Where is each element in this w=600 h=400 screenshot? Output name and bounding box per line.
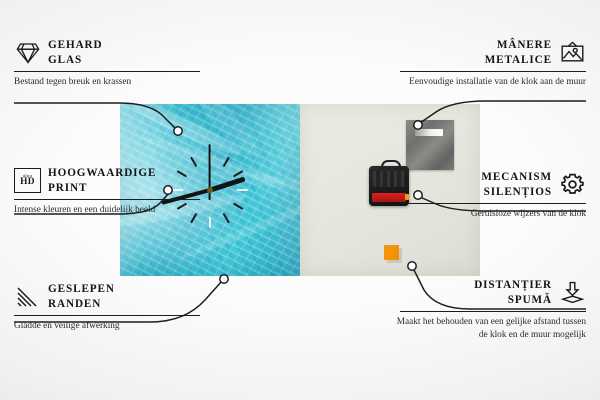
callout-description: Geruisloze wijzers van de klok <box>400 208 586 221</box>
divider <box>14 199 200 200</box>
callout-description: Maakt het behouden van een gelijke afsta… <box>386 316 586 342</box>
gear-icon <box>559 171 586 198</box>
callout-description: Bestand tegen breuk en krassen <box>14 76 200 89</box>
callout-description: Eenvoudige installatie van de klok aan d… <box>400 76 586 89</box>
callout-header: MECANISMSILENȚIOS <box>400 170 586 200</box>
hanger-slot <box>415 129 443 136</box>
diamond-icon <box>14 39 41 66</box>
movement-hanger-loop <box>381 160 401 171</box>
callout-geslepen-randen[interactable]: GESLEPENRANDEN Gladde en veilige afwerki… <box>14 282 200 333</box>
callout-header: DISTANȚIERSPUMĂ <box>400 278 586 308</box>
callout-header: GESLEPENRANDEN <box>14 282 200 312</box>
foam-spacer <box>384 245 399 260</box>
callout-mecanism-silentios[interactable]: MECANISMSILENȚIOS Geruisloze wijzers van… <box>400 170 586 221</box>
callout-title: GEHARDGLAS <box>48 38 103 68</box>
callout-gehard-glas[interactable]: GEHARDGLAS Bestand tegen breuk en krasse… <box>14 38 200 89</box>
callout-manere-metalice[interactable]: MÂNEREMETALICE Eenvoudige installatie va… <box>400 38 586 89</box>
divider <box>400 311 586 312</box>
product-infographic: GEHARDGLAS Bestand tegen breuk en krasse… <box>0 0 600 400</box>
divider <box>400 71 586 72</box>
callout-description: Intense kleuren en een duidelijk beeld <box>14 204 200 217</box>
divider <box>14 315 200 316</box>
divider <box>400 203 586 204</box>
callout-title: DISTANȚIERSPUMĂ <box>474 278 552 308</box>
divider <box>14 71 200 72</box>
callout-distantier-spuma[interactable]: DISTANȚIERSPUMĂ Maakt het behouden van e… <box>400 278 586 342</box>
callout-header: MÂNEREMETALICE <box>400 38 586 68</box>
callout-header: ultraHD HOOGWAARDIGEPRINT <box>14 166 200 196</box>
clock-hand-cap <box>207 187 213 193</box>
callout-title: GESLEPENRANDEN <box>48 282 115 312</box>
picture-frame-icon <box>559 39 586 66</box>
callout-header: GEHARDGLAS <box>14 38 200 68</box>
ultra-hd-icon: ultraHD <box>14 167 41 194</box>
metal-hanger-plate <box>406 120 454 170</box>
callout-hoogwaardige-print[interactable]: ultraHD HOOGWAARDIGEPRINT Intense kleure… <box>14 166 200 217</box>
callout-description: Gladde en veilige afwerking <box>14 320 200 333</box>
callout-title: MECANISMSILENȚIOS <box>481 170 552 200</box>
callout-title: HOOGWAARDIGEPRINT <box>48 166 156 196</box>
spacer-arrow-icon <box>559 279 586 306</box>
callout-title: MÂNEREMETALICE <box>485 38 552 68</box>
bevelled-edges-icon <box>14 283 41 310</box>
